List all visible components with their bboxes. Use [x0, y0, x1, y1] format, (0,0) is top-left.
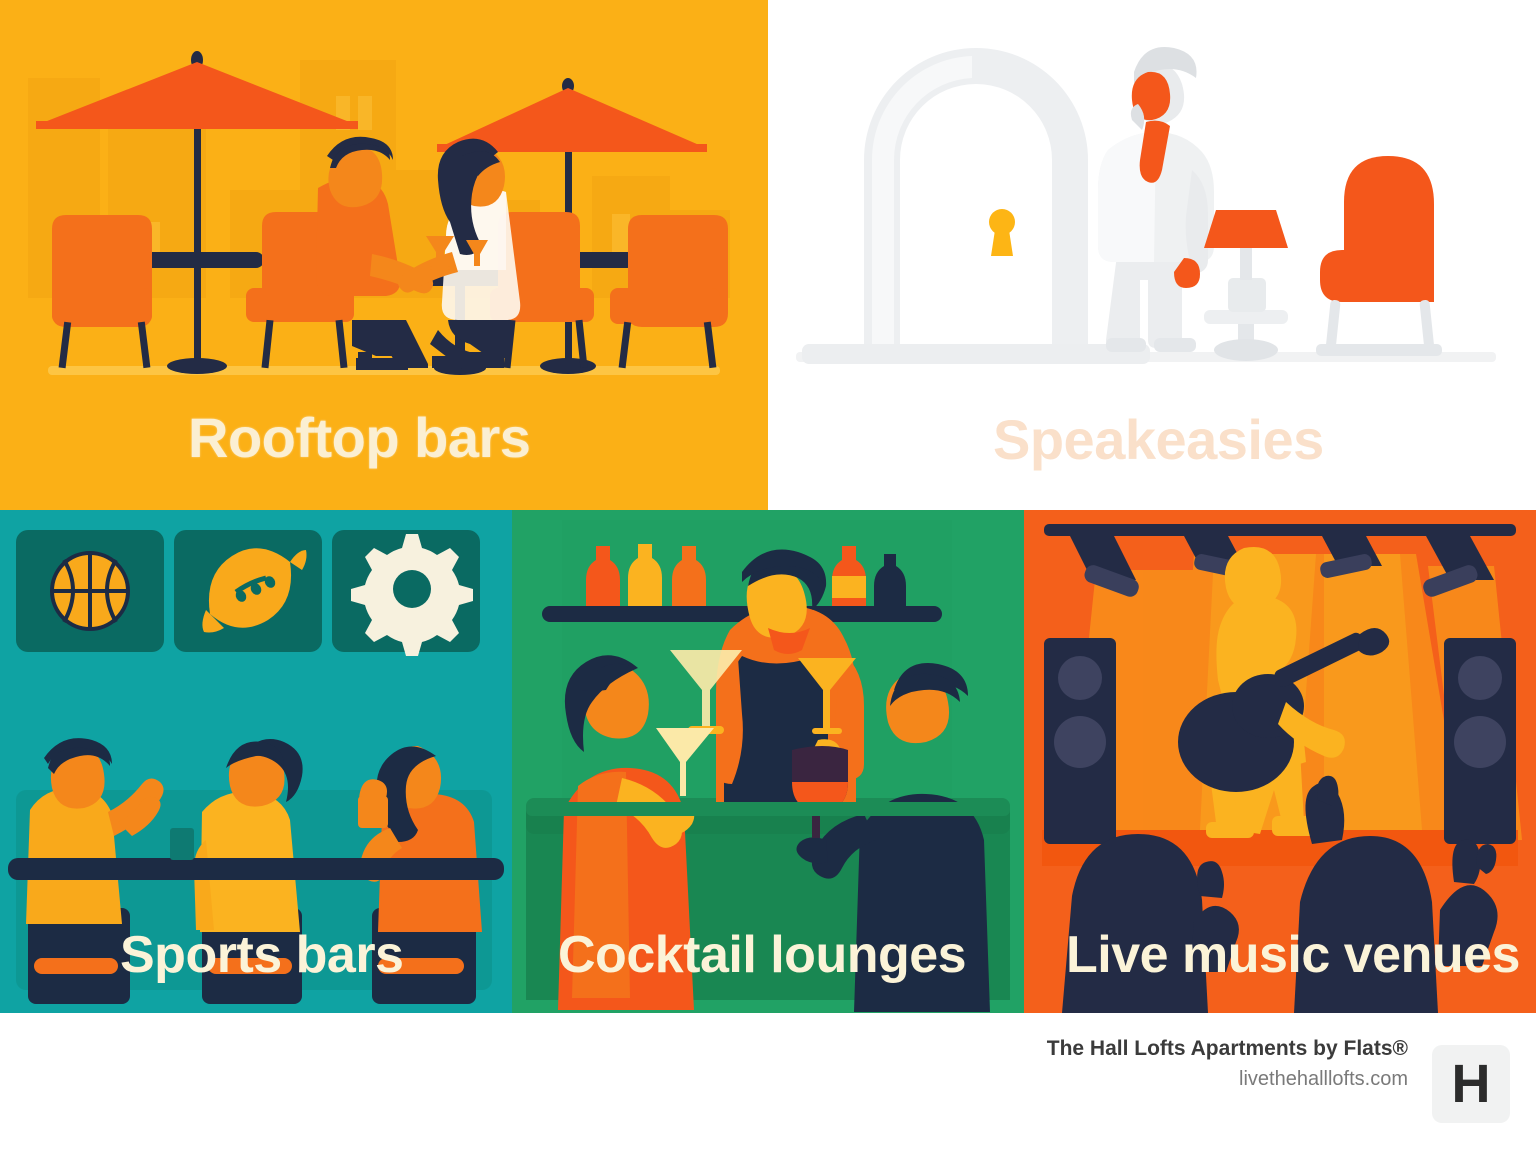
arched-door: [802, 48, 1150, 364]
basketball-icon: [52, 553, 128, 629]
footer-branding: The Hall Lofts Apartments by Flats® live…: [1047, 1035, 1408, 1094]
speaker-right: [1444, 638, 1516, 844]
side-table: [1204, 210, 1288, 361]
logo-letter-h: H: [1452, 1057, 1491, 1111]
speaker-left: [1044, 638, 1116, 844]
panel-sports-bars[interactable]: Sports bars: [0, 510, 512, 1013]
footer-website-url[interactable]: livethehalllofts.com: [1047, 1064, 1408, 1094]
panel-cocktail-lounges[interactable]: Cocktail lounges: [512, 510, 1024, 1013]
panel-live-music-venues[interactable]: Live music venues: [1024, 510, 1536, 1013]
panel-label-rooftop-bars: Rooftop bars: [188, 405, 530, 470]
doorman-figure: [1098, 47, 1214, 352]
panel-label-sports-bars: Sports bars: [120, 925, 403, 985]
collage-image: Rooftop bars: [0, 0, 1536, 1154]
keyhole-icon: [989, 209, 1015, 256]
panel-label-live-music-venues: Live music venues: [1066, 925, 1520, 985]
footer-property-name: The Hall Lofts Apartments by Flats®: [1047, 1035, 1408, 1062]
armchair: [1316, 156, 1442, 356]
tv-screen-settings: [332, 530, 480, 656]
panel-label-cocktail-lounges: Cocktail lounges: [558, 925, 966, 985]
tv-screen-basketball: [16, 530, 164, 652]
panel-label-speakeasies: Speakeasies: [993, 407, 1324, 472]
panel-rooftop-bars[interactable]: Rooftop bars: [0, 0, 768, 510]
panel-speakeasies[interactable]: Speakeasies: [768, 0, 1536, 510]
footer: The Hall Lofts Apartments by Flats® live…: [0, 1013, 1536, 1154]
tv-screen-football: [174, 530, 322, 652]
brand-logo[interactable]: H: [1432, 1045, 1510, 1123]
